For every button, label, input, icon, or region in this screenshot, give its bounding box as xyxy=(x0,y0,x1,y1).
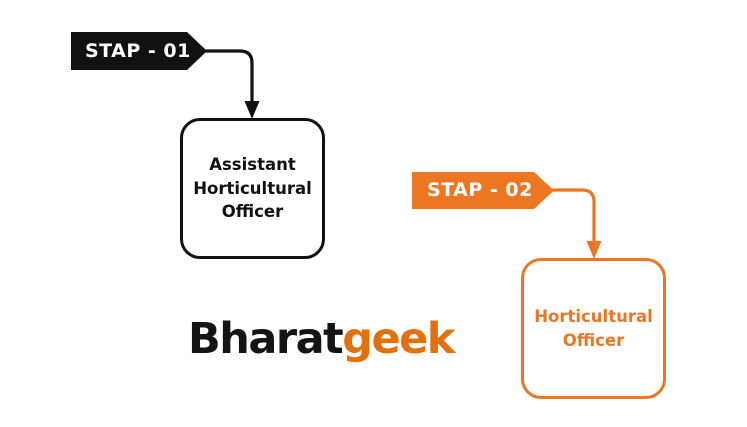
role-box-assistant-horticultural-officer[interactable]: Assistant Horticultural Officer xyxy=(180,118,325,259)
connector-step-1 xyxy=(206,51,260,119)
step-tag-01-label: STAP - 01 xyxy=(85,42,191,61)
brand-logo: Bharatgeek xyxy=(188,318,454,361)
step-tag-02-label: STAP - 02 xyxy=(427,181,533,200)
role-box-2-line-2: Officer xyxy=(563,331,625,350)
step-tag-02: STAP - 02 xyxy=(412,172,554,209)
role-box-horticultural-officer[interactable]: Horticultural Officer xyxy=(521,258,666,399)
step-tag-01: STAP - 01 xyxy=(71,32,207,70)
role-box-1-line-2: Horticultural xyxy=(193,179,312,198)
connector-step-2 xyxy=(553,190,602,259)
role-box-1-line-3: Officer xyxy=(222,202,284,221)
diagram-canvas: STAP - 01 Assistant Horticultural Office… xyxy=(0,0,747,427)
brand-logo-part-geek: geek xyxy=(342,314,454,364)
role-box-1-label: Assistant Horticultural Officer xyxy=(185,153,320,225)
role-box-2-label: Horticultural Officer xyxy=(526,305,661,353)
role-box-2-line-1: Horticultural xyxy=(534,307,653,326)
brand-logo-part-bharat: Bharat xyxy=(188,314,342,364)
role-box-1-line-1: Assistant xyxy=(209,155,296,174)
